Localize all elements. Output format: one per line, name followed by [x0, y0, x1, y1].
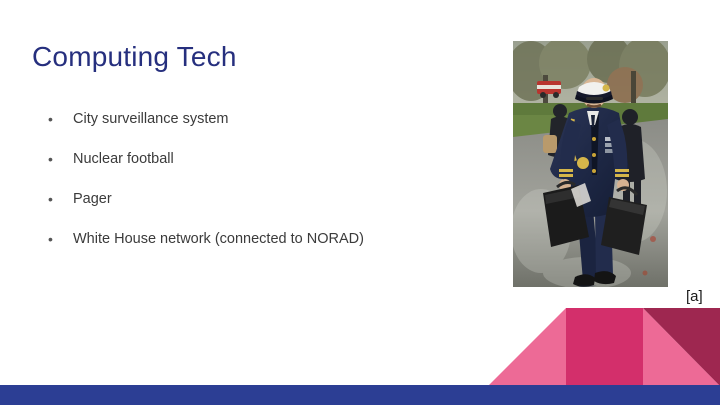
deco-left-triangle: [488, 308, 566, 386]
citation-marker[interactable]: [a]: [686, 288, 703, 306]
list-item-label: Pager: [73, 191, 112, 207]
decorative-trapezoid-shape: [480, 308, 720, 386]
military-aide-carrying-nuclear-football-photo: [513, 41, 668, 287]
list-item: • City surveillance system: [44, 106, 464, 146]
bullet-point-icon: •: [48, 106, 53, 132]
bullet-point-icon: •: [48, 226, 53, 252]
page-title: Computing Tech: [32, 40, 237, 74]
list-item: • Pager: [44, 186, 464, 226]
bullet-point-icon: •: [48, 146, 53, 172]
list-item-label: Nuclear football: [73, 151, 174, 167]
list-item: • Nuclear football: [44, 146, 464, 186]
bullet-list: • City surveillance system • Nuclear foo…: [44, 106, 464, 266]
list-item-label: White House network (connected to NORAD): [73, 231, 364, 247]
deco-center-block: [566, 308, 643, 386]
list-item: • White House network (connected to NORA…: [44, 226, 464, 266]
slide: Computing Tech • City surveillance syste…: [0, 0, 720, 405]
bottom-accent-bar: [0, 385, 720, 405]
list-item-label: City surveillance system: [73, 111, 229, 127]
bullet-point-icon: •: [48, 186, 53, 212]
